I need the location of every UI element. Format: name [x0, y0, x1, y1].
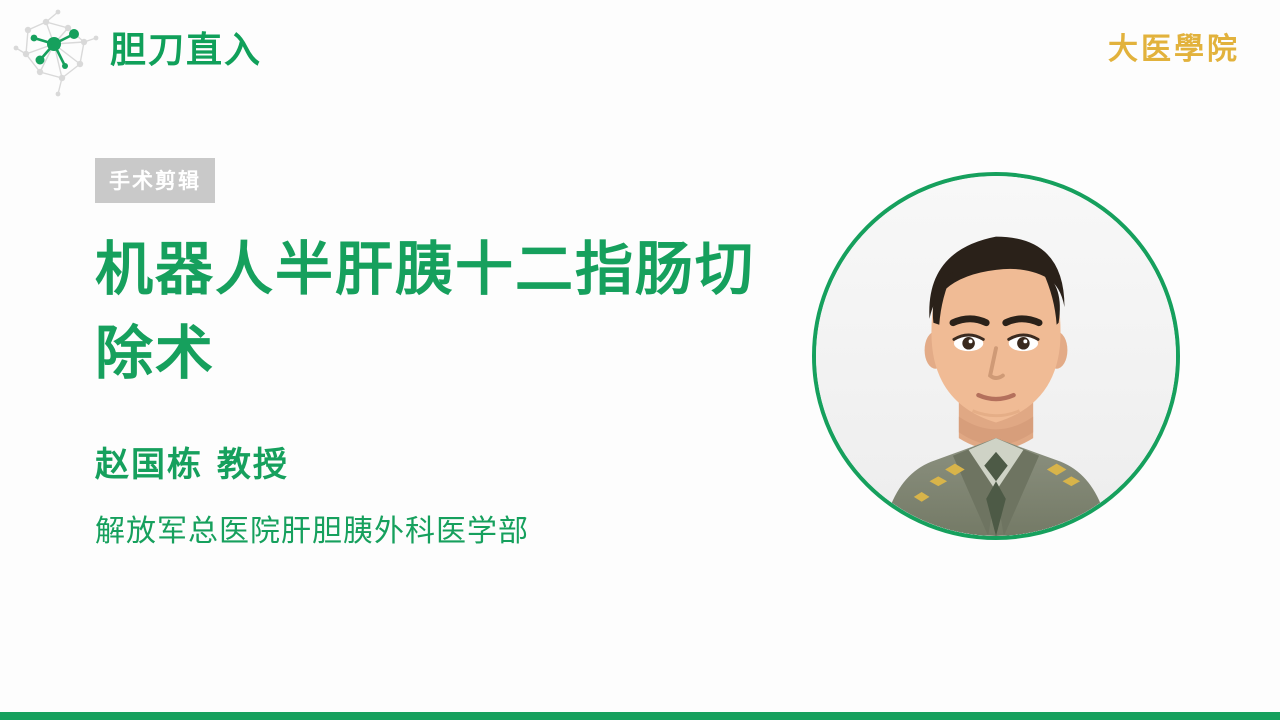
page-title: 机器人半肝胰十二指肠切除术	[95, 227, 795, 395]
neural-network-icon	[10, 8, 106, 100]
brand-title: 胆刀直入	[110, 21, 262, 73]
academy-logo: 大医學院	[1108, 24, 1240, 68]
footer-accent-bar	[0, 712, 1280, 720]
main-content: 手术剪辑 机器人半肝胰十二指肠切除术 赵国栋 教授 解放军总医院肝胆胰外科医学部	[95, 158, 815, 550]
speaker-name: 赵国栋 教授	[95, 437, 815, 486]
speaker-affiliation: 解放军总医院肝胆胰外科医学部	[95, 506, 815, 550]
category-badge: 手术剪辑	[95, 158, 215, 203]
avatar	[812, 172, 1180, 540]
header: 胆刀直入 大医學院	[0, 0, 1280, 108]
avatar-portrait	[816, 176, 1176, 536]
slide-root: 胆刀直入 大医學院 手术剪辑 机器人半肝胰十二指肠切除术 赵国栋 教授 解放军总…	[0, 0, 1280, 720]
